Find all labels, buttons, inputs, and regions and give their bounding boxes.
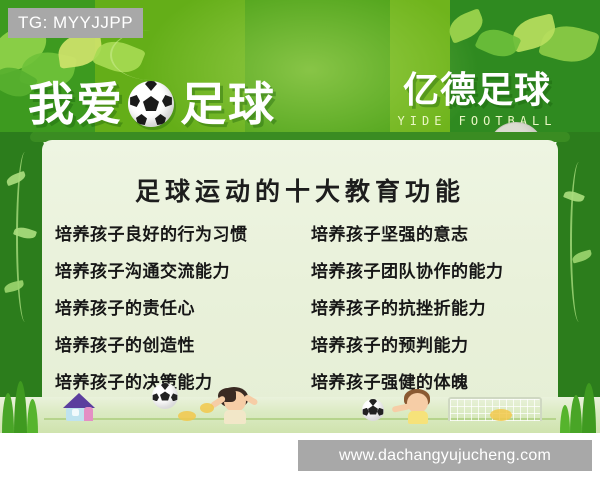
house-icon [62,395,96,421]
list-item: 培养孩子团队协作的能力 [305,259,555,285]
brand-name-en: YIDE FOOTBALL [372,114,582,128]
soccer-ball-icon [128,81,174,127]
list-item: 培养孩子的创造性 [55,333,305,359]
splash-icon [490,409,512,421]
list-item: 培养孩子沟通交流能力 [55,259,305,285]
benefits-column-right: 培养孩子坚强的意志 培养孩子团队协作的能力 培养孩子的抗挫折能力 培养孩子的预判… [305,222,555,396]
page-title: 足球运动的十大教育功能 [0,172,600,208]
title-char: 球 [228,81,274,127]
tg-watermark-label: TG: MYYJJPP [8,8,143,38]
list-item: 培养孩子的抗挫折能力 [305,296,555,322]
title-char: 我 [28,81,74,127]
list-item: 培养孩子的责任心 [55,296,305,322]
soccer-ball-icon [362,399,384,421]
soccer-ball-icon [152,383,178,409]
poster-image: 我 爱 足 球 亿德足球 YIDE FOOTBALL 足球 [0,0,600,433]
benefits-list: 培养孩子良好的行为习惯 培养孩子沟通交流能力 培养孩子的责任心 培养孩子的创造性… [55,222,555,396]
title-char: 爱 [76,81,122,127]
poster-brand-logo: 亿德足球 YIDE FOOTBALL [372,72,582,128]
splash-icon [178,411,196,421]
child-celebrating-icon [200,387,256,423]
benefits-column-left: 培养孩子良好的行为习惯 培养孩子沟通交流能力 培养孩子的责任心 培养孩子的创造性… [55,222,305,396]
child-kicking-icon [388,389,440,423]
list-item: 培养孩子良好的行为习惯 [55,222,305,248]
site-url-watermark: www.dachangyujucheng.com [298,440,592,471]
list-item: 培养孩子的预判能力 [305,333,555,359]
list-item: 培养孩子坚强的意志 [305,222,555,248]
poster-title-left: 我 爱 足 球 [28,75,348,133]
title-char: 足 [180,81,226,127]
brand-name-cn: 亿德足球 [372,72,582,110]
